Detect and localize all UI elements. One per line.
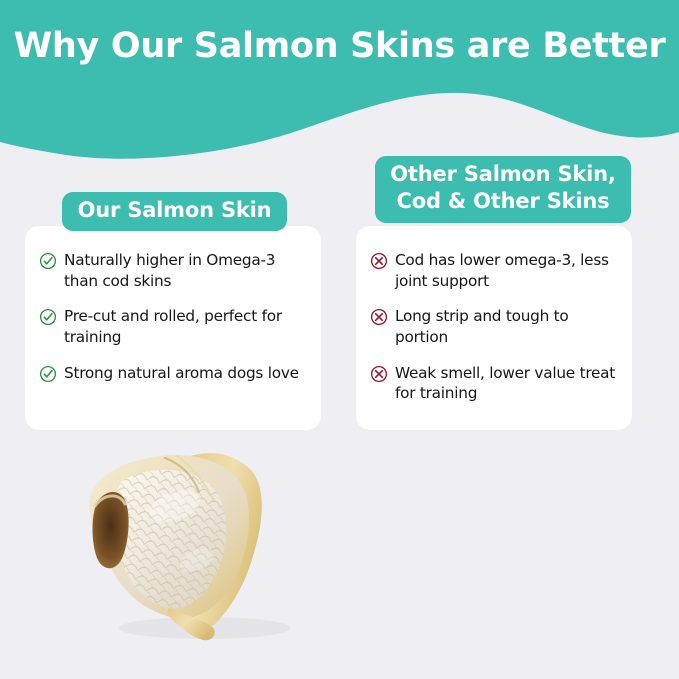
list-item-label: Long strip and tough to portion: [395, 306, 620, 347]
other-skins-drawback-list: Cod has lower omega-3, less joint suppor…: [370, 250, 620, 404]
badge-label: Our Salmon Skin: [72, 197, 277, 224]
comparison-columns: Naturally higher in Omega-3 than cod ski…: [0, 0, 679, 679]
x-circle-icon: [370, 252, 388, 270]
our-salmon-skin-photo: [65, 432, 335, 654]
list-item-label: Pre-cut and rolled, perfect for training: [64, 306, 305, 347]
list-item: Long strip and tough to portion: [370, 306, 620, 347]
list-item-label: Strong natural aroma dogs love: [64, 363, 299, 384]
infographic-page: Why Our Salmon Skins are Better Naturall…: [0, 0, 679, 679]
list-item-label: Weak smell, lower value treat for traini…: [395, 363, 620, 404]
check-circle-icon: [39, 252, 57, 270]
list-item: Strong natural aroma dogs love: [39, 363, 305, 384]
list-item: Weak smell, lower value treat for traini…: [370, 363, 620, 404]
our-salmon-skin-benefit-list: Naturally higher in Omega-3 than cod ski…: [39, 250, 305, 383]
page-title: Why Our Salmon Skins are Better: [0, 26, 679, 66]
check-circle-icon: [39, 308, 57, 326]
x-circle-icon: [370, 365, 388, 383]
our-salmon-skin-badge: Our Salmon Skin: [62, 192, 287, 231]
other-skins-badge: Other Salmon Skin, Cod & Other Skins: [375, 156, 631, 223]
list-item-label: Cod has lower omega-3, less joint suppor…: [395, 250, 620, 291]
list-item-label: Naturally higher in Omega-3 than cod ski…: [64, 250, 305, 291]
x-circle-icon: [370, 308, 388, 326]
badge-label-line2: Cod & Other Skins: [385, 188, 621, 215]
other-skins-card: Cod has lower omega-3, less joint suppor…: [356, 226, 632, 430]
our-salmon-skin-card: Naturally higher in Omega-3 than cod ski…: [25, 226, 321, 430]
list-item: Pre-cut and rolled, perfect for training: [39, 306, 305, 347]
list-item: Naturally higher in Omega-3 than cod ski…: [39, 250, 305, 291]
check-circle-icon: [39, 365, 57, 383]
badge-label-line1: Other Salmon Skin,: [385, 161, 621, 188]
list-item: Cod has lower omega-3, less joint suppor…: [370, 250, 620, 291]
